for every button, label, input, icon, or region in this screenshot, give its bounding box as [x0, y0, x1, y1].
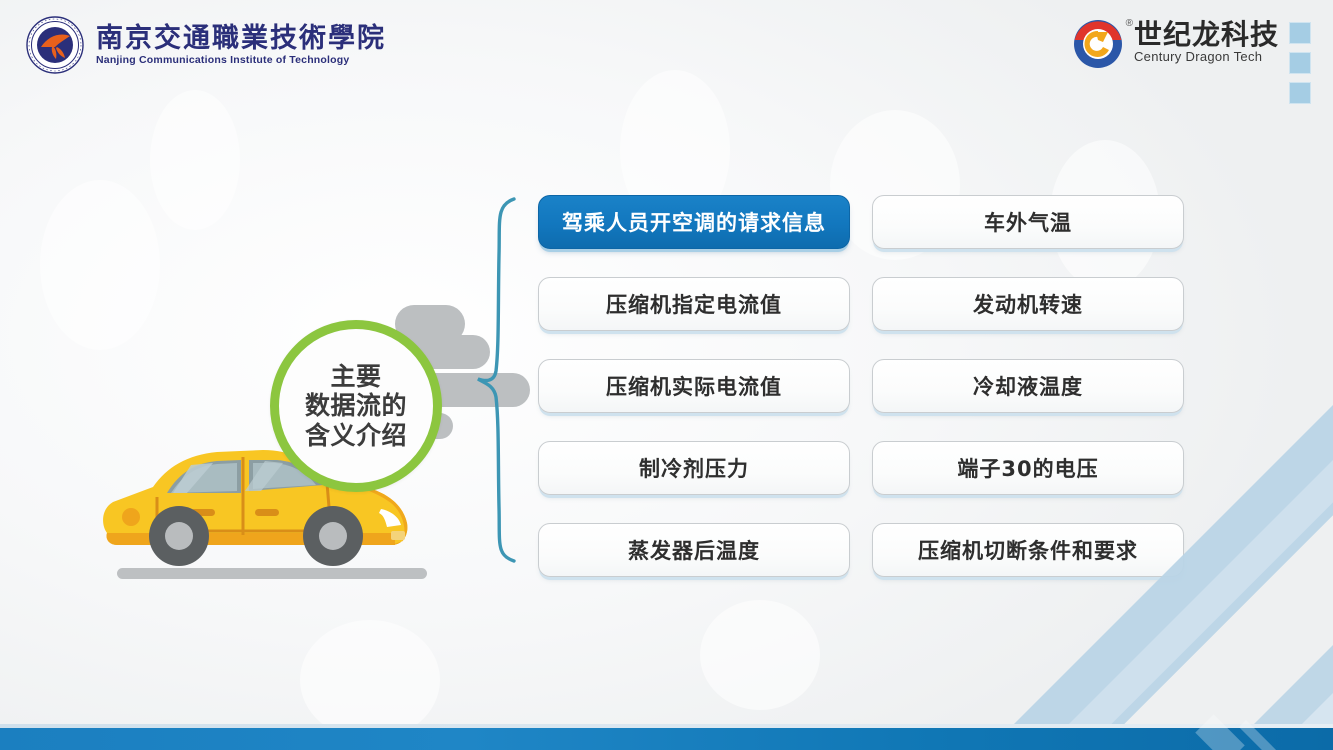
- footer-bar: [0, 728, 1333, 750]
- university-en-name: Nanjing Communications Institute of Tech…: [96, 55, 386, 67]
- data-item-0[interactable]: 驾乘人员开空调的请求信息: [538, 195, 850, 249]
- company-en-name: Century Dragon Tech: [1134, 49, 1279, 65]
- badge-line-2: 数据流的: [305, 391, 407, 421]
- decor-square-3: [1289, 82, 1311, 104]
- slide-canvas: 南京交通職業技術學院 Nanjing Communications Instit…: [0, 0, 1333, 750]
- data-stream-grid: 驾乘人员开空调的请求信息 车外气温 压缩机指定电流值 发动机转速 压缩机实际电流…: [538, 195, 1184, 577]
- badge-line-3: 含义介绍: [305, 421, 407, 451]
- data-item-2[interactable]: 压缩机指定电流值: [538, 277, 850, 331]
- university-emblem-icon: [26, 16, 84, 74]
- data-item-3[interactable]: 发动机转速: [872, 277, 1184, 331]
- main-topic-badge: 主要 数据流的 含义介绍: [270, 320, 442, 492]
- university-cn-name: 南京交通職業技術學院: [96, 24, 386, 54]
- stripe-5: [1243, 435, 1333, 750]
- left-logo-group: 南京交通職業技術學院 Nanjing Communications Instit…: [26, 16, 386, 74]
- data-item-8[interactable]: 蒸发器后温度: [538, 523, 850, 577]
- data-item-5[interactable]: 冷却液温度: [872, 359, 1184, 413]
- registered-mark: ®: [1126, 18, 1133, 29]
- road-shadow: [117, 568, 427, 579]
- company-cn-name: 世纪龙科技: [1134, 20, 1279, 49]
- badge-line-1: 主要: [305, 362, 407, 392]
- data-item-1[interactable]: 车外气温: [872, 195, 1184, 249]
- decor-square-2: [1289, 52, 1311, 74]
- data-item-4[interactable]: 压缩机实际电流值: [538, 359, 850, 413]
- data-item-6[interactable]: 制冷剂压力: [538, 441, 850, 495]
- data-item-9[interactable]: 压缩机切断条件和要求: [872, 523, 1184, 577]
- footer-stripe-1: [1195, 714, 1244, 750]
- right-logo-group: ® 世纪龙科技 Century Dragon Tech: [1072, 18, 1311, 104]
- stripe-4: [1173, 358, 1333, 750]
- century-dragon-logo-icon: ®: [1072, 18, 1124, 70]
- curly-brace-connector: [470, 195, 530, 565]
- data-item-7[interactable]: 端子30的电压: [872, 441, 1184, 495]
- decorative-squares: [1289, 18, 1311, 104]
- decor-square-1: [1289, 22, 1311, 44]
